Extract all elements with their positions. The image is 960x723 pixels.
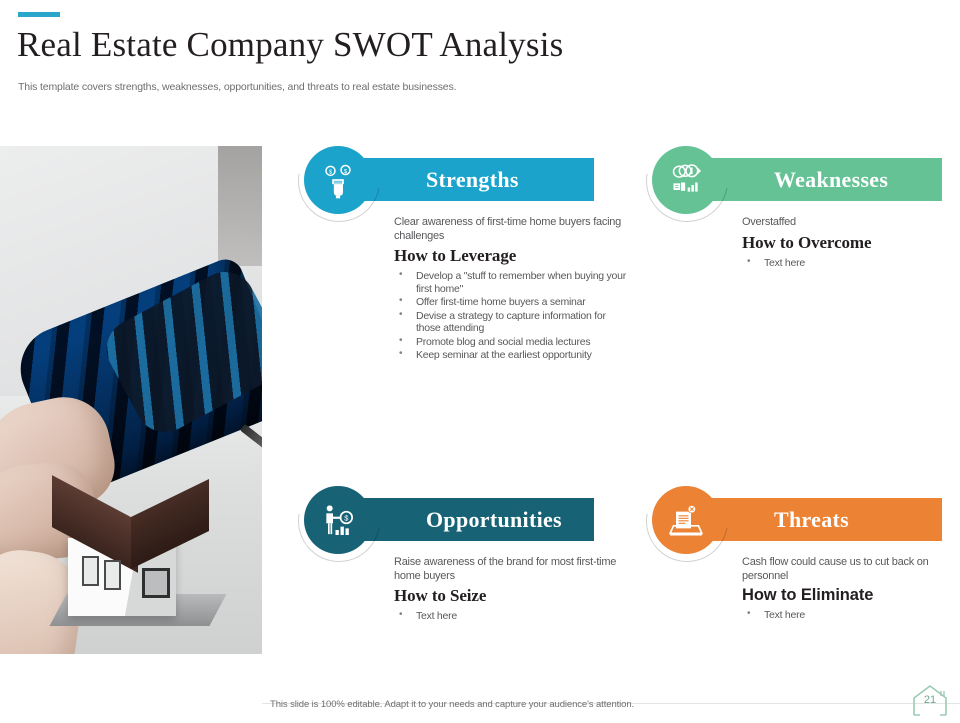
threats-howto-heading: How to Eliminate: [742, 586, 960, 605]
strengths-icon-circle: $ $: [304, 146, 372, 214]
weaknesses-body: Overstaffed How to Overcome Text here: [742, 216, 960, 270]
threats-points-list: Text here: [742, 609, 960, 622]
title-accent-rule: [18, 12, 60, 17]
weaknesses-points-list: Text here: [742, 257, 960, 270]
page-subtitle: This template covers strengths, weakness…: [18, 81, 456, 93]
opportunities-body: Raise awareness of the brand for most fi…: [394, 556, 626, 624]
strengths-points-list: Develop a "stuff to remember when buying…: [394, 270, 626, 362]
svg-text:$: $: [344, 514, 349, 523]
list-item: Keep seminar at the earliest opportunity: [394, 349, 626, 362]
person-growth-chart-coin-icon: $: [318, 500, 358, 540]
list-item: Devise a strategy to capture information…: [394, 310, 626, 335]
opportunities-points-list: Text here: [394, 610, 626, 623]
weaknesses-title: Weaknesses: [774, 167, 888, 193]
opportunities-lead: Raise awareness of the brand for most fi…: [394, 556, 626, 583]
weaknesses-howto-heading: How to Overcome: [742, 233, 960, 253]
list-item: Text here: [742, 609, 960, 622]
photo-house-window: [142, 568, 170, 598]
threats-body: Cash flow could cause us to cut back on …: [742, 556, 960, 623]
list-item: Text here: [742, 257, 960, 270]
list-item: Develop a "stuff to remember when buying…: [394, 270, 626, 295]
photo-wall-panel: [218, 146, 262, 266]
threats-icon-circle: [652, 486, 720, 554]
hand-holding-money-icon: $ $: [318, 160, 358, 200]
coins-bar-chart-icon: [666, 160, 706, 200]
hero-photo: [0, 146, 262, 654]
laptop-document-alert-icon: [666, 500, 706, 540]
page-title: Real Estate Company SWOT Analysis: [17, 24, 563, 66]
footer-note: This slide is 100% editable. Adapt it to…: [270, 699, 634, 710]
photo-house-window: [82, 556, 99, 586]
weaknesses-icon-circle: [652, 146, 720, 214]
page-number-badge: 21: [908, 682, 952, 718]
strengths-body: Clear awareness of first-time home buyer…: [394, 216, 626, 363]
weaknesses-lead: Overstaffed: [742, 216, 960, 230]
opportunities-title: Opportunities: [426, 507, 562, 533]
opportunities-icon-circle: $: [304, 486, 372, 554]
strengths-lead: Clear awareness of first-time home buyer…: [394, 216, 626, 243]
strengths-howto-heading: How to Leverage: [394, 246, 626, 266]
list-item: Text here: [394, 610, 626, 623]
threats-lead: Cash flow could cause us to cut back on …: [742, 556, 960, 583]
strengths-title: Strengths: [426, 167, 519, 193]
page-number: 21: [908, 694, 952, 706]
list-item: Promote blog and social media lectures: [394, 336, 626, 349]
list-item: Offer first-time home buyers a seminar: [394, 296, 626, 309]
opportunities-howto-heading: How to Seize: [394, 586, 626, 606]
photo-house-window: [104, 560, 121, 590]
threats-title: Threats: [774, 507, 849, 533]
